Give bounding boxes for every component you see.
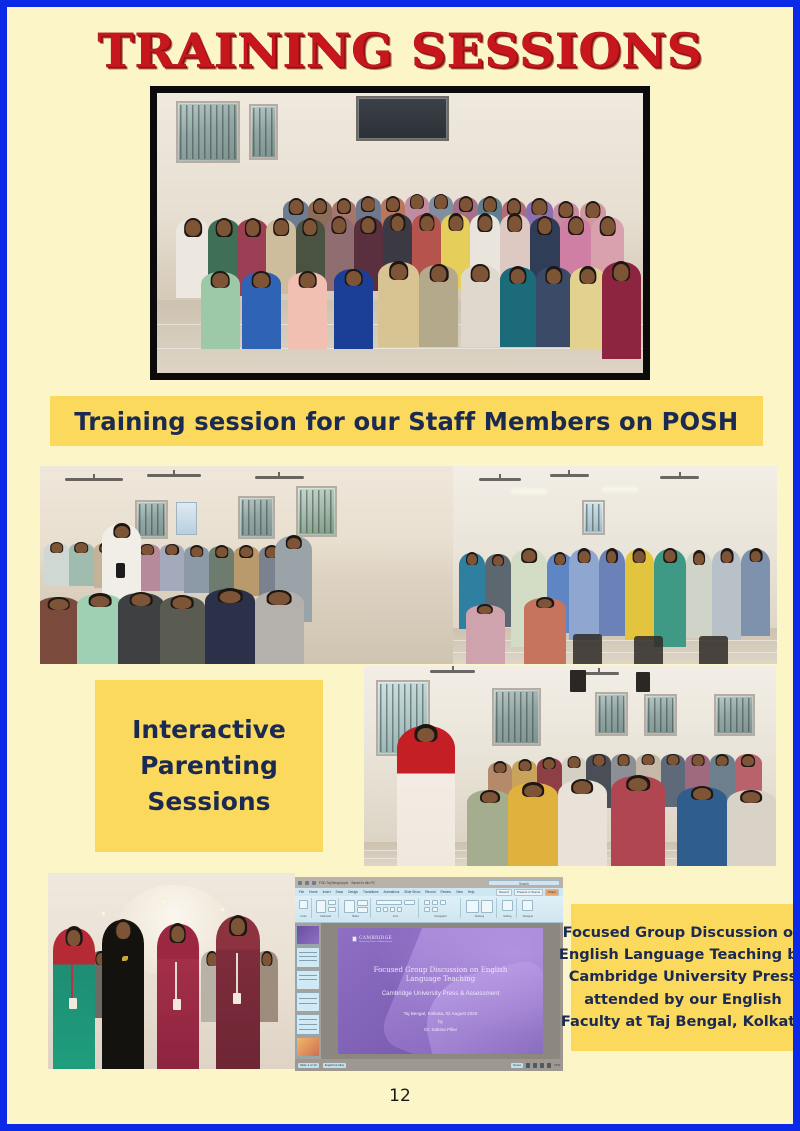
cambridge-crest-icon <box>352 936 357 942</box>
faculty-member <box>53 928 95 1069</box>
caption-fgd-line-2: English Language Teaching by <box>559 944 793 966</box>
share-button[interactable]: Share <box>545 889 559 896</box>
slide-presenter: Dr. Sabina Pillai <box>350 1026 531 1034</box>
ribbon-group-font[interactable]: Font <box>373 898 419 918</box>
menu-item-animations[interactable]: Animations <box>384 890 400 894</box>
caption-fgd-line-5: Faculty at Taj Bengal, Kolkata <box>561 1011 793 1033</box>
menu-item-design[interactable]: Design <box>348 890 358 894</box>
ribbon-group-slides[interactable]: Slides <box>341 898 371 918</box>
parenting-session-audience <box>40 466 453 664</box>
caption-parenting-line-2: Parenting <box>140 752 278 780</box>
menu-item-insert[interactable]: Insert <box>323 890 331 894</box>
id-badge-icon <box>173 999 181 1010</box>
page-title: TRAINING SESSIONS <box>7 24 793 79</box>
menu-item-file[interactable]: File <box>299 890 304 894</box>
caption-fgd-line-4: attended by our English <box>584 989 782 1011</box>
lanyard-icon <box>71 965 73 1002</box>
microphone-icon <box>116 563 124 578</box>
participant-clapping <box>625 549 654 640</box>
caption-band-posh: Training session for our Staff Members o… <box>50 396 763 446</box>
save-icon[interactable] <box>298 881 302 885</box>
slide-subtitle: Cambridge University Press & Assessment <box>350 990 531 998</box>
ribbon-group-clipboard[interactable]: Clipboard <box>313 898 339 918</box>
ribbon: Undo Clipboard Slides <box>295 896 563 923</box>
ceiling-fan-icon <box>660 476 699 479</box>
slide-venue-date: Taj Bengal, Kolkata, 02 August 2025 <box>350 1010 531 1018</box>
current-slide[interactable]: CAMBRIDGE University Press & Assessment … <box>338 928 544 1053</box>
slide-by-label: by <box>350 1018 531 1026</box>
powerpoint-window: FGD Taj Bengal.pptx Saved to this PC Sea… <box>295 877 563 1071</box>
ceiling-fan-icon <box>65 478 123 481</box>
student-in-uniform <box>569 549 598 640</box>
chair-icon <box>699 636 728 664</box>
newsletter-page: TRAINING SESSIONS <box>7 7 793 1124</box>
lanyard-icon <box>236 953 238 993</box>
menu-item-help[interactable]: Help <box>468 890 475 894</box>
record-button[interactable]: Record <box>496 889 512 896</box>
menu-item-draw[interactable]: Draw <box>336 890 343 894</box>
undo-icon[interactable] <box>305 881 309 885</box>
caption-box-focused-group: Focused Group Discussion on English Lang… <box>571 904 793 1051</box>
faculty-member <box>102 920 144 1069</box>
slideshow-icon[interactable] <box>547 1063 551 1068</box>
slide-body: Focused Group Discussion on English Lang… <box>350 966 531 1033</box>
slide-thumbnail[interactable] <box>296 992 320 1012</box>
titlebar: FGD Taj Bengal.pptx Saved to this PC Sea… <box>295 877 563 888</box>
normal-view-icon[interactable] <box>526 1063 530 1068</box>
caption-fgd-line-1: Focused Group Discussion on <box>563 922 793 944</box>
reading-view-icon[interactable] <box>540 1063 544 1068</box>
cambridge-presentation-screen: FGD Taj Bengal.pptx Saved to this PC Sea… <box>295 877 563 1071</box>
parenting-photo-band <box>40 466 777 664</box>
ribbon-group-paragraph[interactable]: Paragraph <box>421 898 461 918</box>
window-title: FGD Taj Bengal.pptx <box>319 881 348 885</box>
menu-item-review[interactable]: Review <box>441 890 451 894</box>
parenting-session-speaker <box>364 666 776 866</box>
brooch-icon <box>122 956 128 961</box>
chair-icon <box>573 634 602 664</box>
lanyard-icon <box>175 962 177 1000</box>
caption-parenting-line-3: Sessions <box>147 788 270 816</box>
staff-group-photo-posh <box>157 93 643 373</box>
ceiling-fan-icon <box>147 474 201 477</box>
ceiling-fan-icon <box>550 474 589 477</box>
language-status[interactable]: English (India) <box>323 1063 346 1068</box>
statusbar: Slide 1 of 12 English (India) Notes 73% <box>295 1059 563 1071</box>
menu-item-transitions[interactable]: Transitions <box>363 890 378 894</box>
slide-stage: CAMBRIDGE University Press & Assessment … <box>321 923 560 1059</box>
staff-group-photo-frame <box>150 86 650 380</box>
ceiling-fan-icon <box>479 478 521 481</box>
photo-scene <box>157 93 643 373</box>
slide-thumbnail-panel[interactable] <box>295 923 321 1059</box>
slide-thumbnail[interactable] <box>296 947 320 967</box>
menubar: File Home Insert Draw Design Transitions… <box>295 888 563 896</box>
ribbon-group-designer[interactable]: Designer <box>519 898 537 918</box>
redo-icon[interactable] <box>312 881 316 885</box>
zoom-level[interactable]: 73% <box>554 1063 560 1068</box>
slide-thumbnail[interactable] <box>296 1014 320 1034</box>
ribbon-group-label: Undo <box>296 915 311 918</box>
ribbon-group-label: Designer <box>519 915 537 918</box>
session-speaker <box>397 726 455 866</box>
slide-thumbnail[interactable] <box>296 1037 320 1057</box>
english-faculty-group-photo <box>48 873 295 1069</box>
participant-clapping <box>654 549 686 647</box>
present-in-teams-button[interactable]: Present in Teams <box>514 889 543 896</box>
ceiling-fan-icon <box>255 476 305 479</box>
caption-posh-text: Training session for our Staff Members o… <box>75 407 739 436</box>
cambridge-logo: CAMBRIDGE University Press & Assessment <box>352 936 392 943</box>
menu-item-view[interactable]: View <box>456 890 463 894</box>
autosave-status: Saved to this PC <box>351 881 375 885</box>
ribbon-group-label: Slides <box>341 915 370 918</box>
ribbon-group-undo[interactable]: Undo <box>296 898 312 918</box>
ribbon-group-label: Paragraph <box>421 915 460 918</box>
slide-counter[interactable]: Slide 1 of 12 <box>298 1063 319 1068</box>
menu-item-slide-show[interactable]: Slide Show <box>404 890 420 894</box>
crowd-group <box>157 132 643 373</box>
ceiling-fan-icon <box>430 670 475 673</box>
slide-sorter-icon[interactable] <box>533 1063 537 1068</box>
caption-box-parenting: Interactive Parenting Sessions <box>95 680 323 852</box>
search-input[interactable]: Search <box>488 880 560 886</box>
ribbon-group-editing[interactable]: Editing <box>499 898 517 918</box>
cambridge-sub-wordmark: University Press & Assessment <box>359 941 392 943</box>
menu-item-record[interactable]: Record <box>425 890 435 894</box>
caption-parenting-line-1: Interactive <box>132 716 286 744</box>
slide-title-line-2: Language Teaching <box>350 975 531 984</box>
id-badge-icon <box>69 998 77 1009</box>
ribbon-group-label: Editing <box>499 915 516 918</box>
slide-thumbnail[interactable] <box>296 970 320 990</box>
ribbon-group-label: Drawing <box>463 915 496 918</box>
page-number: 12 <box>7 1086 793 1106</box>
id-badge-icon <box>233 993 241 1004</box>
faculty-member <box>157 924 199 1069</box>
parenting-session-activity <box>453 466 777 664</box>
slide-title-line-1: Focused Group Discussion on English <box>350 966 531 975</box>
caption-fgd-line-3: Cambridge University Press <box>569 966 793 988</box>
notes-button[interactable]: Notes <box>511 1063 523 1068</box>
ribbon-group-drawing[interactable]: Drawing <box>463 898 497 918</box>
chair-icon <box>634 636 663 664</box>
slide-thumbnail[interactable] <box>296 925 320 945</box>
faculty-member <box>216 916 260 1069</box>
ribbon-group-label: Font <box>373 915 418 918</box>
menu-item-home[interactable]: Home <box>309 890 318 894</box>
ribbon-group-label: Clipboard <box>313 915 338 918</box>
